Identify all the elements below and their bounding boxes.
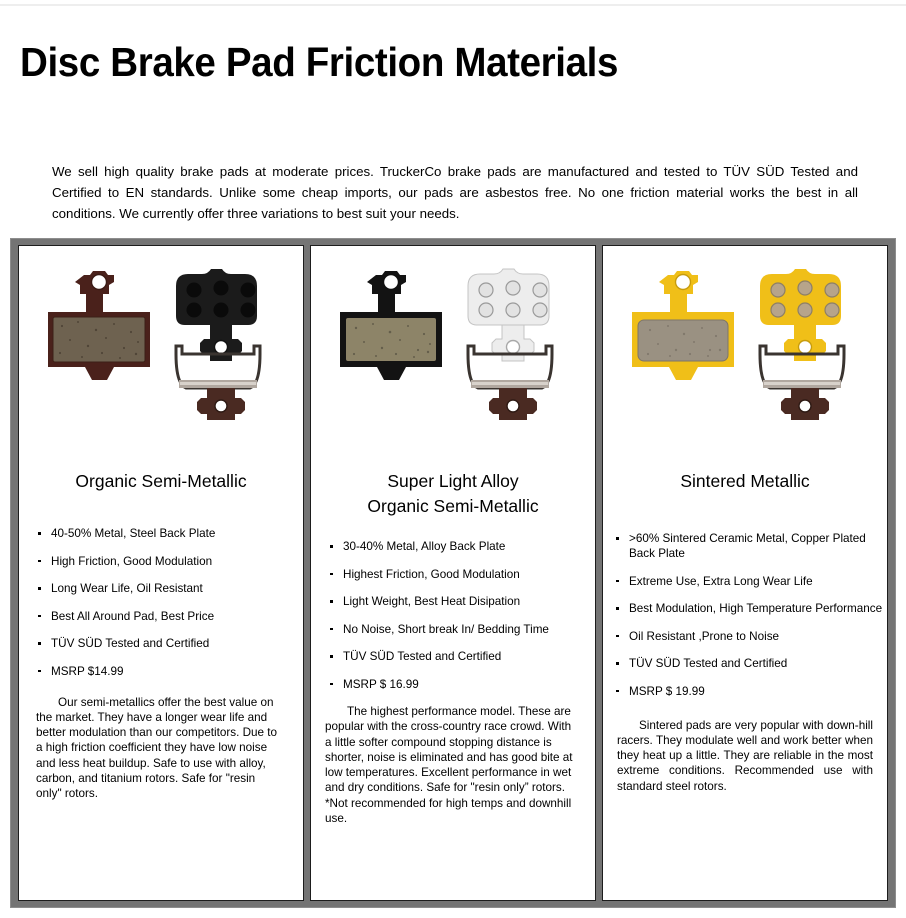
card-title-line-1: Super Light Alloy [387,471,518,491]
feature-list: 30-40% Metal, Alloy Back Plate Highest F… [327,539,595,692]
list-item: Light Weight, Best Heat Disipation [327,594,595,609]
friction-pad-left [48,271,150,380]
list-item: Long Wear Life, Oil Resistant [35,581,303,596]
description-paragraph: The highest performance model. These are… [325,704,579,826]
feature-list: >60% Sintered Ceramic Metal, Copper Plat… [613,531,887,699]
backing-plate-right [468,269,549,361]
list-item: Extreme Use, Extra Long Wear Life [613,574,887,589]
product-card-organic-semi-metallic[interactable]: Organic Semi-Metallic 40-50% Metal, Stee… [18,245,304,901]
friction-pad-left [340,271,442,380]
list-item: Best Modulation, High Temperature Perfor… [613,601,887,616]
list-item: TÜV SÜD Tested and Certified [35,636,303,651]
card-title-line-1: Sintered Metallic [680,471,809,491]
intro-paragraph: We sell high quality brake pads at moder… [52,161,858,224]
list-item: TÜV SÜD Tested and Certified [613,656,887,671]
card-title-line-1: Organic Semi-Metallic [75,471,246,491]
list-item: 30-40% Metal, Alloy Back Plate [327,539,595,554]
list-item-msrp: MSRP $14.99 [35,664,303,679]
brake-pad-set-illustration [610,258,880,458]
list-item: Highest Friction, Good Modulation [327,567,595,582]
card-title: Organic Semi-Metallic [19,469,303,494]
card-title: Sintered Metallic [603,469,887,494]
list-item: High Friction, Good Modulation [35,554,303,569]
description-text: The highest performance model. These are… [325,705,573,794]
product-image-super-light-alloy [311,258,595,463]
list-item-msrp: MSRP $ 16.99 [327,677,595,692]
description-text: Sintered pads are very popular with down… [617,719,873,793]
description-note: *Not recommended for high temps and down… [325,796,579,827]
card-title-line-2: Organic Semi-Metallic [311,494,595,519]
description-paragraph: Our semi-metallics offer the best value … [36,695,283,802]
list-item: No Noise, Short break In/ Bedding Time [327,622,595,637]
top-divider-rule [0,4,906,6]
product-card-super-light-alloy[interactable]: Super Light Alloy Organic Semi-Metallic … [310,245,596,901]
description-paragraph: Sintered pads are very popular with down… [617,718,873,794]
product-image-sintered-metallic [603,258,887,463]
feature-list: 40-50% Metal, Steel Back Plate High Fric… [35,526,303,679]
list-item-msrp: MSRP $ 19.99 [613,684,887,699]
page-title: Disc Brake Pad Friction Materials [20,38,618,86]
list-item: 40-50% Metal, Steel Back Plate [35,526,303,541]
backing-plate-right [760,269,841,361]
list-item: Oil Resistant ,Prone to Noise [613,629,887,644]
product-card-strip: Organic Semi-Metallic 40-50% Metal, Stee… [10,238,896,908]
list-item: Best All Around Pad, Best Price [35,609,303,624]
brake-pad-set-illustration [26,258,296,458]
brake-pad-set-illustration [318,258,588,458]
list-item: >60% Sintered Ceramic Metal, Copper Plat… [613,531,887,561]
description-text: Our semi-metallics offer the best value … [36,696,277,801]
product-card-sintered-metallic[interactable]: Sintered Metallic >60% Sintered Ceramic … [602,245,888,901]
list-item: TÜV SÜD Tested and Certified [327,649,595,664]
product-image-organic-semi-metallic [19,258,303,463]
card-title: Super Light Alloy Organic Semi-Metallic [311,469,595,519]
backing-plate-right [176,269,257,361]
friction-pad-left [632,271,734,380]
